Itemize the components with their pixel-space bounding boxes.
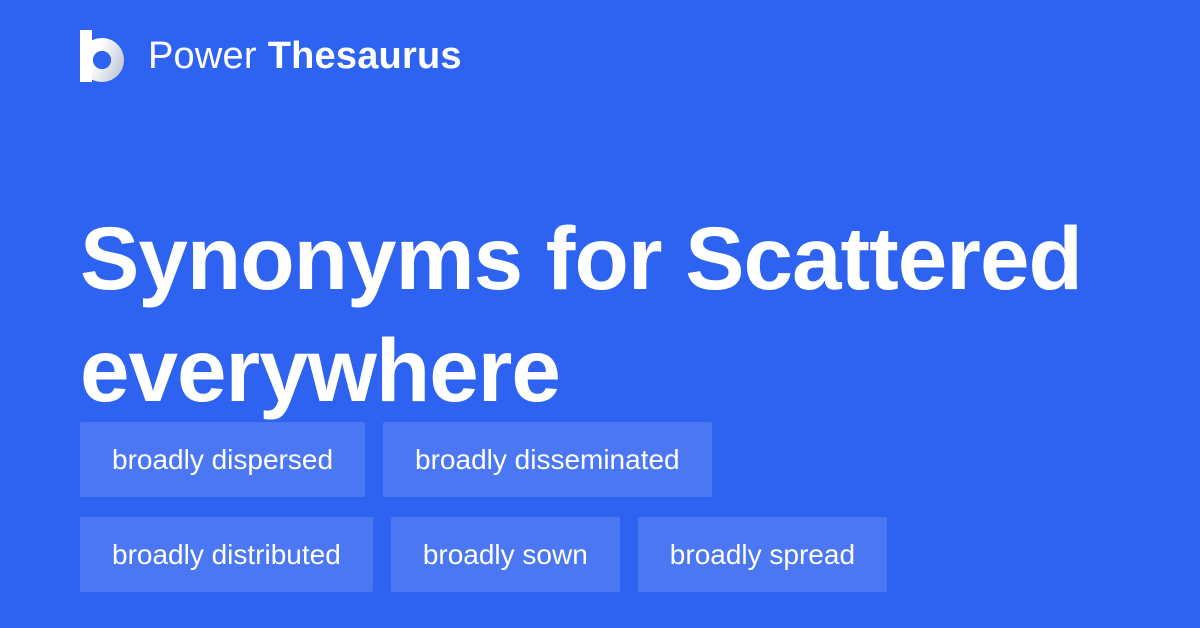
- synonym-list: broadly dispersed broadly disseminated b…: [80, 422, 1120, 592]
- synonym-row: broadly distributed broadly sown broadly…: [80, 517, 1120, 592]
- brand-header[interactable]: Power Thesaurus: [80, 26, 462, 86]
- share-card: Power Thesaurus Synonyms for Scattered e…: [0, 0, 1200, 628]
- synonym-chip[interactable]: broadly distributed: [80, 517, 373, 592]
- synonym-chip[interactable]: broadly disseminated: [383, 422, 712, 497]
- synonym-row: broadly dispersed broadly disseminated: [80, 422, 1120, 497]
- brand-name-power: Power: [148, 37, 257, 75]
- power-thesaurus-logo-icon: [80, 30, 126, 82]
- page-title-line-1: Synonyms for Scattered: [80, 202, 1090, 314]
- page-title-line-2: everywhere: [80, 314, 1090, 426]
- brand-name-thesaurus: Thesaurus: [268, 37, 462, 75]
- synonym-chip[interactable]: broadly dispersed: [80, 422, 365, 497]
- synonym-chip[interactable]: broadly spread: [638, 517, 887, 592]
- brand-name: Power Thesaurus: [148, 37, 462, 75]
- synonym-chip[interactable]: broadly sown: [391, 517, 620, 592]
- page-title: Synonyms for Scattered everywhere: [80, 202, 1090, 426]
